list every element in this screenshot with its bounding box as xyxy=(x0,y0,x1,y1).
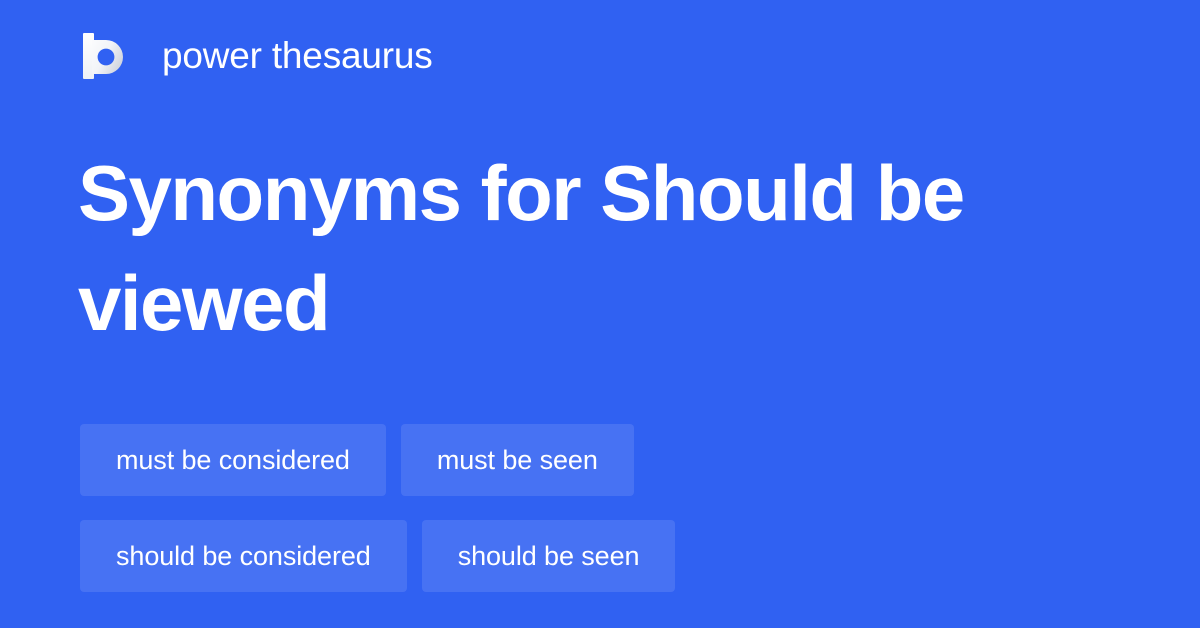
synonym-row: must be considered must be seen xyxy=(80,424,1120,496)
synonym-tag[interactable]: should be seen xyxy=(422,520,676,592)
share-card: power thesaurus Synonyms for Should be v… xyxy=(0,0,1200,628)
power-thesaurus-b-logo-icon xyxy=(80,28,132,84)
brand-name: power thesaurus xyxy=(162,28,433,84)
synonym-tag-list: must be considered must be seen should b… xyxy=(80,424,1120,592)
synonym-tag[interactable]: must be considered xyxy=(80,424,386,496)
page-title: Synonyms for Should be viewed xyxy=(78,138,1088,358)
synonym-tag[interactable]: must be seen xyxy=(401,424,634,496)
synonym-row: should be considered should be seen xyxy=(80,520,1120,592)
synonym-tag[interactable]: should be considered xyxy=(80,520,407,592)
brand-header[interactable]: power thesaurus xyxy=(80,28,433,84)
